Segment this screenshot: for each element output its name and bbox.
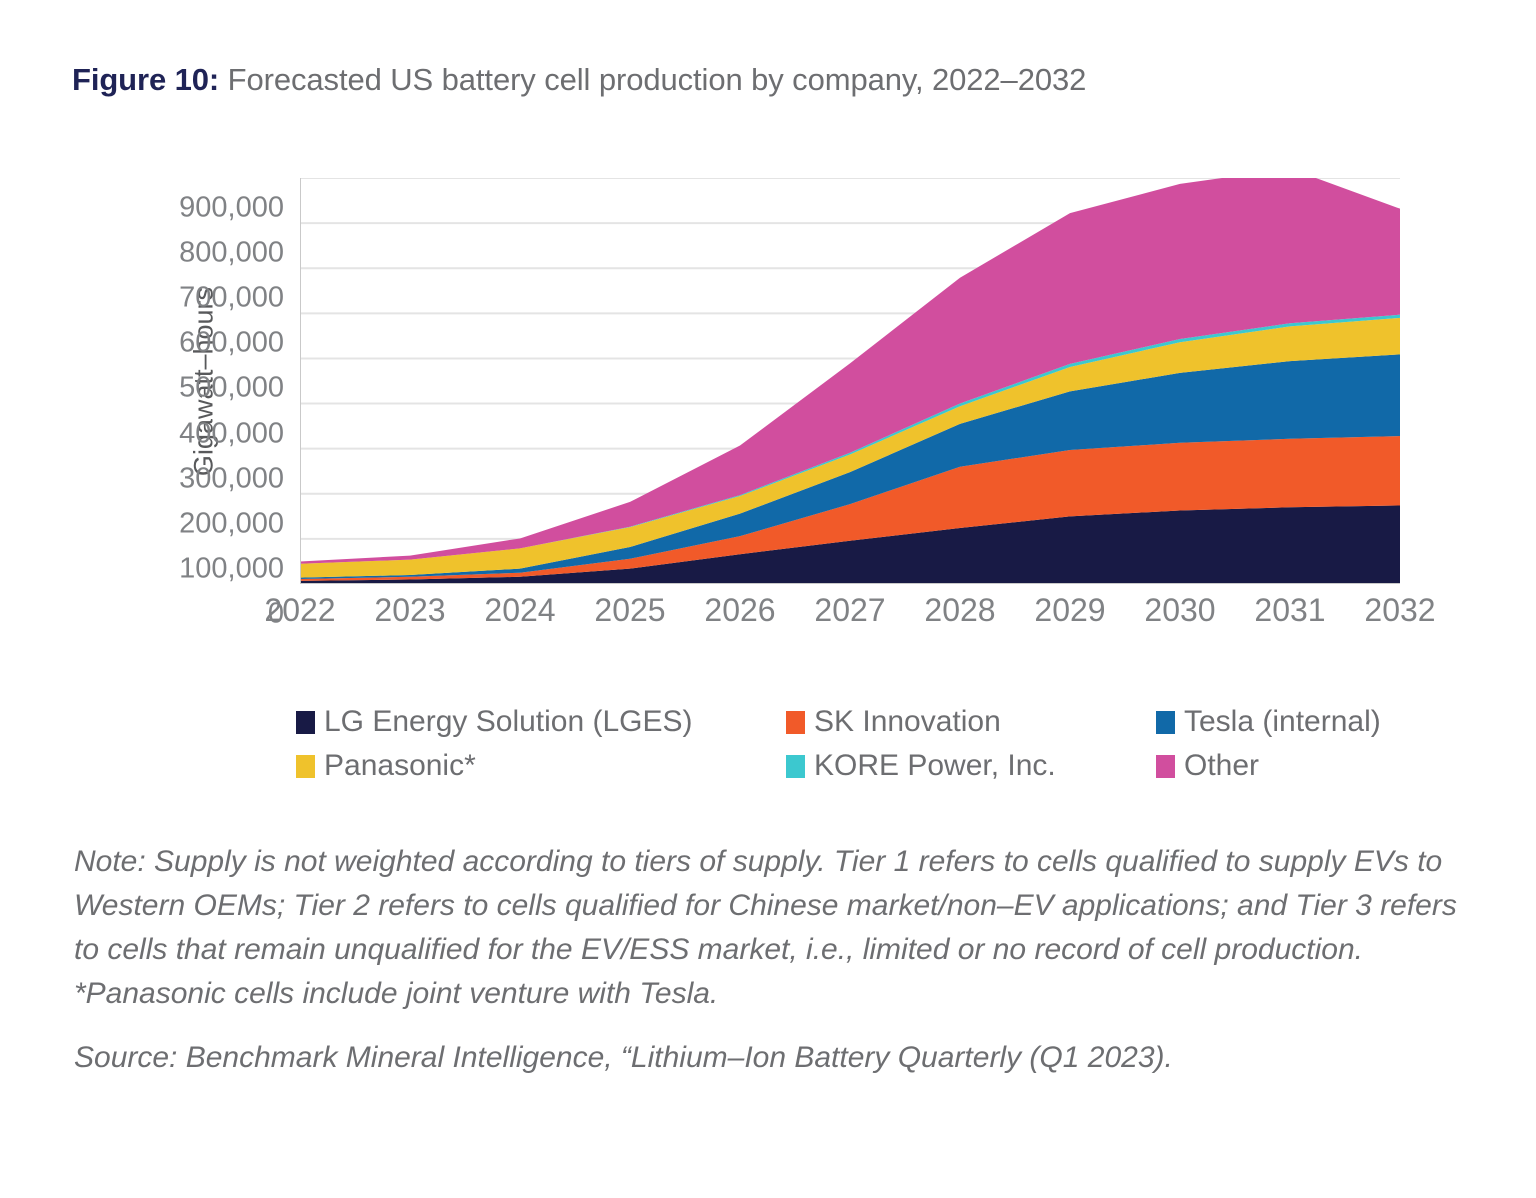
- y-axis-tick-label: 300,000: [179, 464, 284, 493]
- figure-label: Figure 10:: [72, 62, 219, 97]
- page-title: Figure 10: Forecasted US battery cell pr…: [72, 62, 1086, 98]
- legend-label: KORE Power, Inc.: [814, 749, 1056, 783]
- x-axis-tick-label: 2030: [1144, 592, 1215, 629]
- legend-item[interactable]: LG Energy Solution (LGES): [296, 705, 786, 739]
- legend-label: Tesla (internal): [1184, 705, 1381, 739]
- y-axis-ticks: 900,000800,000700,000600,000500,000400,0…: [72, 178, 284, 584]
- legend-item[interactable]: Tesla (internal): [1156, 705, 1446, 739]
- x-axis-tick-label: 2025: [594, 592, 665, 629]
- legend-label: Panasonic*: [324, 749, 476, 783]
- source-text: Source: Benchmark Mineral Intelligence, …: [74, 1036, 1464, 1080]
- legend-item[interactable]: KORE Power, Inc.: [786, 749, 1156, 783]
- legend-swatch-icon: [296, 755, 315, 778]
- chart-container: Gigawatt–hours 900,000800,000700,000600,…: [72, 148, 1464, 648]
- stacked-area-chart: [300, 178, 1400, 584]
- figure-title-text: Forecasted US battery cell production by…: [219, 62, 1086, 97]
- x-axis-tick-label: 2022: [264, 592, 335, 629]
- y-axis-tick-label: 200,000: [179, 509, 284, 538]
- y-axis-tick-label: 700,000: [179, 284, 284, 313]
- legend-swatch-icon: [1156, 755, 1175, 778]
- x-axis-tick-label: 2031: [1254, 592, 1325, 629]
- legend-row: LG Energy Solution (LGES)SK InnovationTe…: [296, 700, 1446, 744]
- y-axis-tick-label: 100,000: [179, 554, 284, 583]
- figure-page: Figure 10: Forecasted US battery cell pr…: [0, 0, 1536, 1198]
- legend-item[interactable]: SK Innovation: [786, 705, 1156, 739]
- legend-item[interactable]: Panasonic*: [296, 749, 786, 783]
- y-axis-tick-label: 500,000: [179, 374, 284, 403]
- y-axis-tick-label: 600,000: [179, 329, 284, 358]
- legend-swatch-icon: [786, 711, 805, 734]
- figure-notes: Note: Supply is not weighted according t…: [74, 840, 1464, 1080]
- x-axis-tick-label: 2024: [484, 592, 555, 629]
- legend-label: LG Energy Solution (LGES): [324, 705, 693, 739]
- x-axis-tick-label: 2032: [1364, 592, 1435, 629]
- x-axis-tick-label: 2027: [814, 592, 885, 629]
- plot-area: [300, 178, 1400, 584]
- x-axis-tick-label: 2028: [924, 592, 995, 629]
- y-axis-tick-label: 800,000: [179, 239, 284, 268]
- x-axis-ticks: 2022202320242025202620272028202920302031…: [300, 592, 1400, 638]
- legend-item[interactable]: Other: [1156, 749, 1446, 783]
- y-axis-tick-label: 400,000: [179, 419, 284, 448]
- chart-legend: LG Energy Solution (LGES)SK InnovationTe…: [296, 700, 1446, 788]
- legend-swatch-icon: [1156, 711, 1175, 734]
- note-text: Note: Supply is not weighted according t…: [74, 840, 1464, 1016]
- legend-row: Panasonic*KORE Power, Inc.Other: [296, 744, 1446, 788]
- x-axis-tick-label: 2023: [374, 592, 445, 629]
- x-axis-tick-label: 2029: [1034, 592, 1105, 629]
- legend-label: SK Innovation: [814, 705, 1001, 739]
- legend-label: Other: [1184, 749, 1259, 783]
- x-axis-tick-label: 2026: [704, 592, 775, 629]
- y-axis-tick-label: 900,000: [179, 194, 284, 223]
- legend-swatch-icon: [786, 755, 805, 778]
- legend-swatch-icon: [296, 711, 315, 734]
